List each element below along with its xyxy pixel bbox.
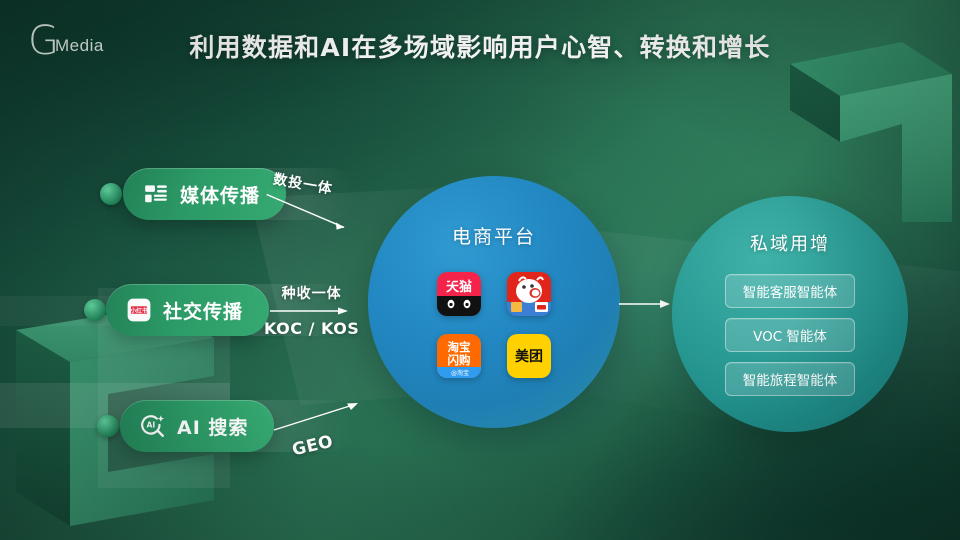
connector-dot-2 [84, 299, 106, 321]
meituan-app-icon[interactable]: 美团 [507, 334, 551, 378]
xiaohongshu-app-icon: 小红书 [126, 297, 152, 323]
private-domain-circle: 私域用增 智能客服智能体 VOC 智能体 智能旅程智能体 [672, 196, 908, 432]
connector-dot-3 [97, 415, 119, 437]
ecommerce-platform-circle: 电商平台 天猫 [368, 176, 620, 428]
ecommerce-circle-title: 电商平台 [452, 222, 536, 249]
connector-label-bottom: GEO [290, 432, 335, 461]
connector-label-bottom: KOC / KOS [264, 319, 359, 338]
ai-search-sparkle-icon: AI [140, 413, 166, 439]
svg-text:闪购: 闪购 [448, 353, 471, 367]
agent-chip[interactable]: 智能客服智能体 [725, 274, 855, 308]
svg-text:美团: 美团 [515, 348, 543, 365]
agent-chip[interactable]: VOC 智能体 [725, 318, 855, 352]
channel-pill-label: AI 搜索 [177, 413, 248, 440]
connector-ai-search-to-ecommerce: GEO [272, 400, 368, 456]
svg-text:小红书: 小红书 [129, 306, 148, 314]
agent-chip[interactable]: 智能旅程智能体 [725, 362, 855, 396]
arrow-right-up-icon [272, 400, 368, 434]
connector-label-top: 种收一体 [264, 283, 359, 303]
jd-app-icon[interactable] [507, 272, 551, 316]
page-title: 利用数据和AI在多场域影响用户心智、转换和增长 [0, 28, 960, 64]
private-domain-circle-title: 私域用增 [750, 230, 830, 256]
connector-social-to-ecommerce: 种收一体 KOC / KOS [264, 283, 359, 338]
agent-chip-list: 智能客服智能体 VOC 智能体 智能旅程智能体 [725, 274, 855, 396]
svg-text:天猫: 天猫 [446, 279, 472, 295]
channel-pill-social[interactable]: 小红书 社交传播 [106, 284, 269, 336]
ecommerce-app-grid: 天猫 [437, 272, 551, 378]
connector-dot-1 [100, 183, 122, 205]
svg-text:@淘宝: @淘宝 [451, 369, 469, 377]
slide-canvas: G Media 利用数据和AI在多场域影响用户心智、转换和增长 媒体传播 小红书… [0, 0, 960, 540]
svg-text:淘宝: 淘宝 [448, 340, 471, 354]
flow-arrow-icon [618, 297, 676, 311]
channel-pill-label: 社交传播 [163, 297, 243, 324]
arrow-right-icon [268, 304, 356, 318]
svg-text:AI: AI [146, 421, 155, 430]
connector-media-to-ecommerce: 数投一体 [266, 169, 364, 237]
news-layout-icon [143, 181, 169, 207]
channel-pill-label: 媒体传播 [180, 181, 260, 208]
channel-pill-ai-search[interactable]: AI AI 搜索 [120, 400, 274, 452]
taobao-shangou-app-icon[interactable]: 淘宝 闪购 @淘宝 [437, 334, 481, 378]
tmall-app-icon[interactable]: 天猫 [437, 272, 481, 316]
